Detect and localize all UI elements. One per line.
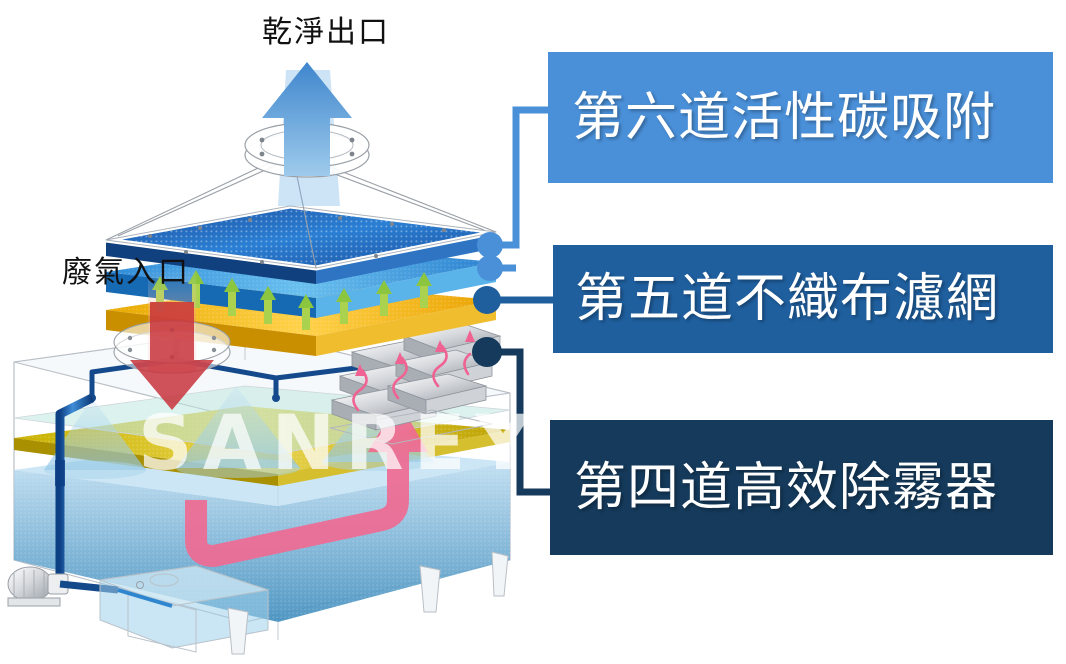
callout-stage-5[interactable]: 第五道不織布濾網 xyxy=(553,245,1053,353)
annotation-waste-gas-inlet: 廢氣入口 xyxy=(62,258,190,288)
leader-dot-stage-5 xyxy=(473,286,501,314)
leader-dot-stage-6-a xyxy=(477,232,503,258)
diagram-canvas: SANREY 乾淨出口 廢氣入口 第六道活性碳吸附 第五道不織布濾網 第四道高效… xyxy=(0,0,1066,664)
callout-stage-6[interactable]: 第六道活性碳吸附 xyxy=(548,52,1053,183)
annotation-clean-outlet: 乾淨出口 xyxy=(262,18,390,48)
callout-stage-5-label: 第五道不織布濾網 xyxy=(575,273,999,325)
leader-dot-stage-4 xyxy=(472,337,502,367)
callout-stage-4[interactable]: 第四道高效除霧器 xyxy=(550,420,1053,555)
callout-stage-6-label: 第六道活性碳吸附 xyxy=(572,92,996,144)
callout-stage-4-label: 第四道高效除霧器 xyxy=(574,462,998,514)
leader-dot-stage-6-b xyxy=(477,255,503,281)
